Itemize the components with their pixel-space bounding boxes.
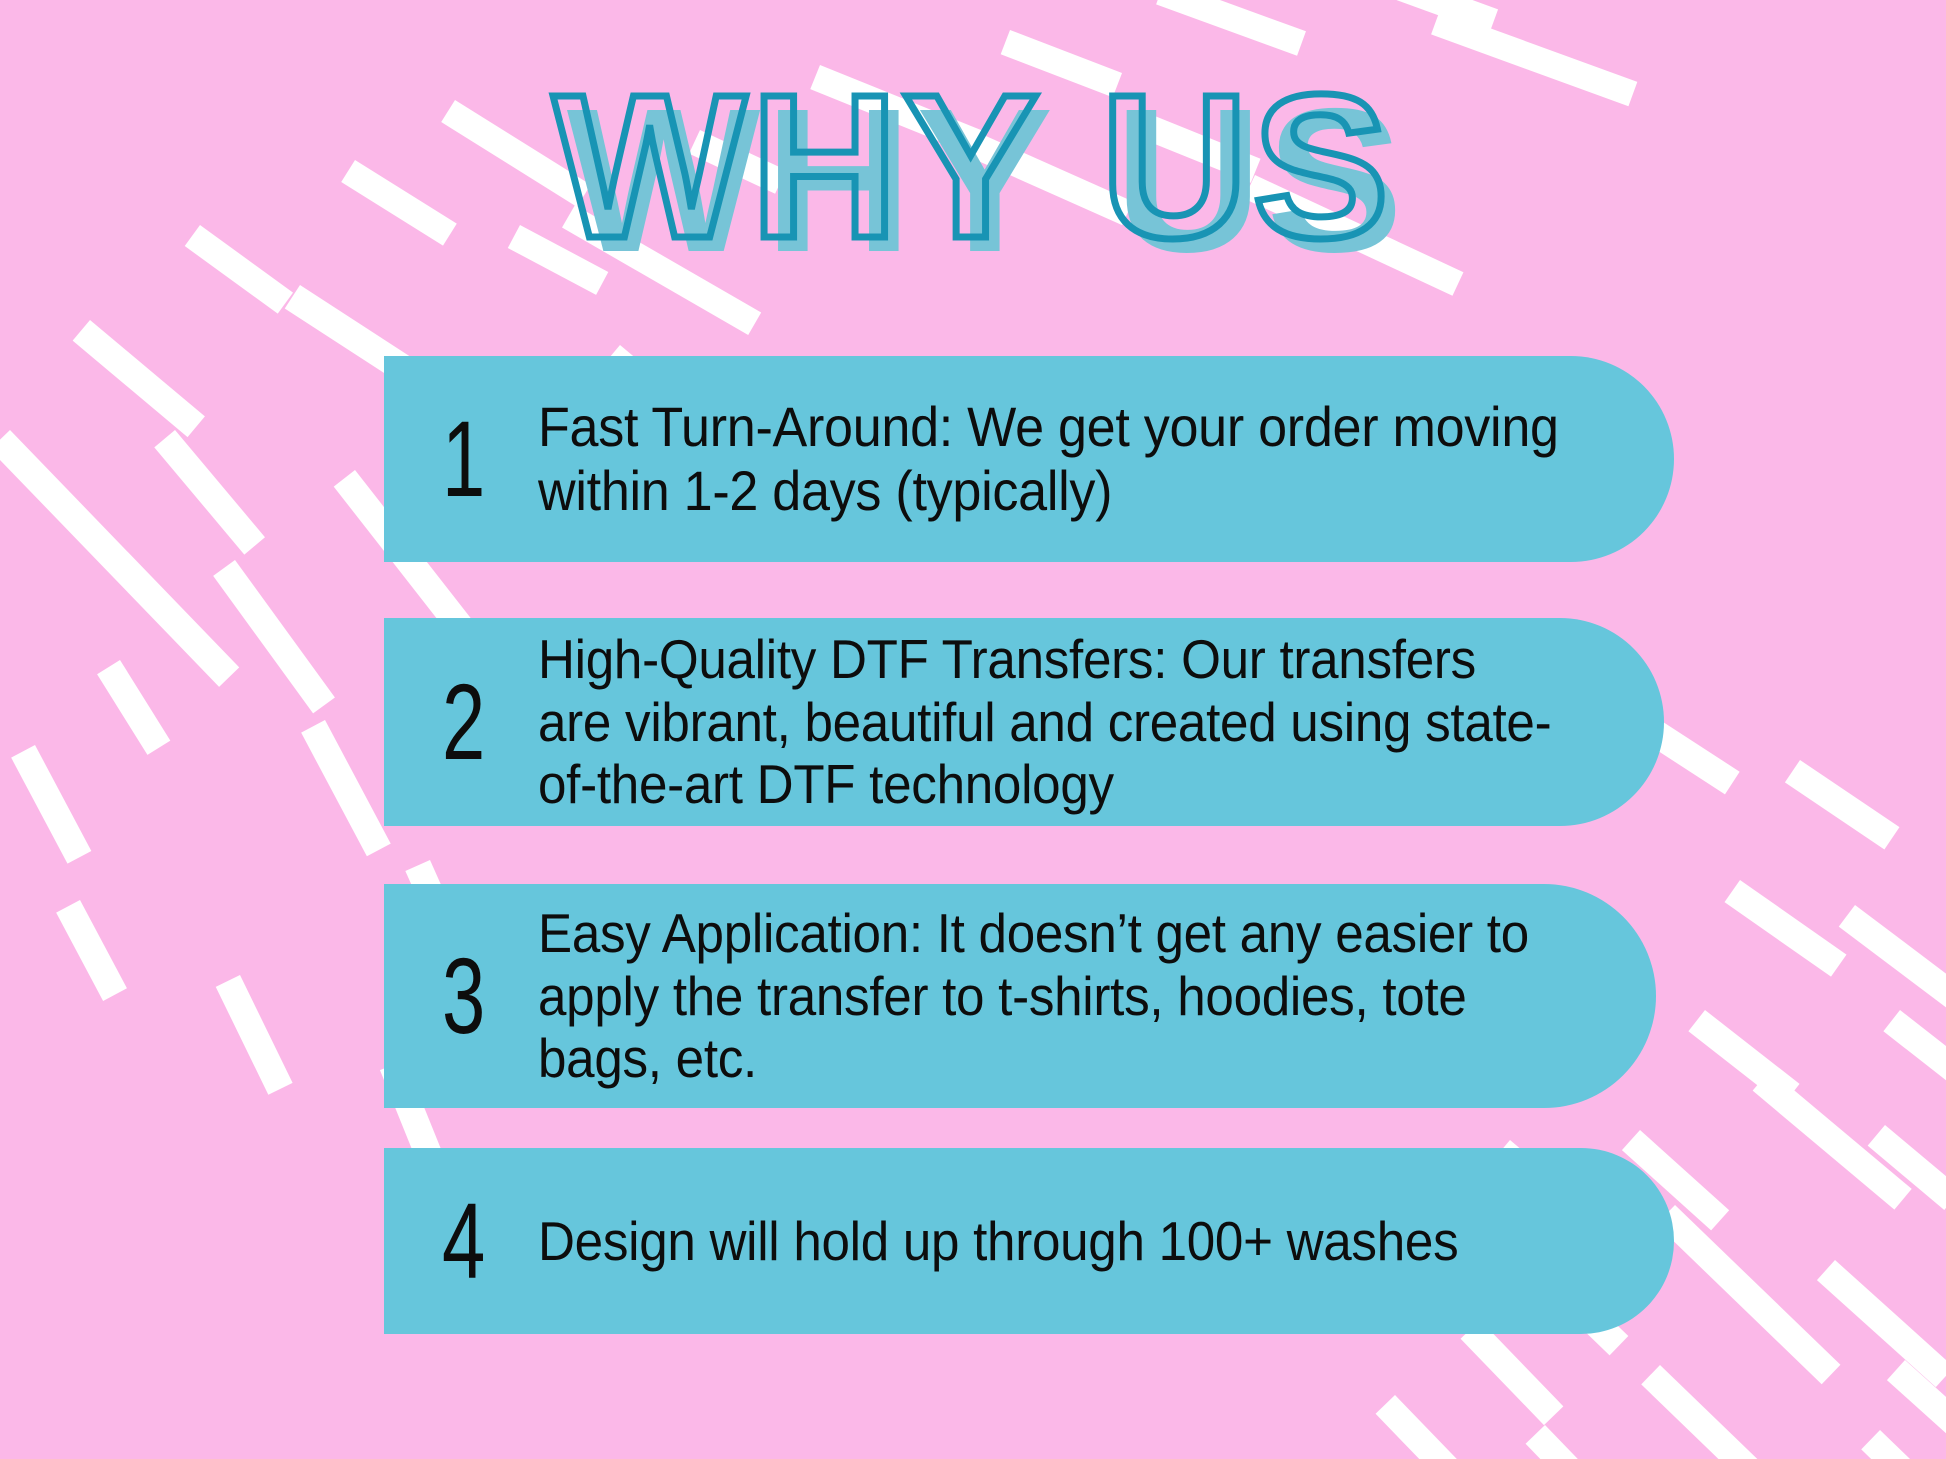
decorative-dash [11, 745, 91, 864]
decorative-dash [1156, 0, 1306, 56]
decorative-dash [1868, 1125, 1946, 1210]
benefit-card-2: 2 High-Quality DTF Transfers: Our transf… [384, 618, 1664, 826]
decorative-dash [1861, 1430, 1946, 1459]
benefit-card-3: 3 Easy Application: It doesn’t get any e… [384, 884, 1656, 1108]
page-title: WHY US WHY US [0, 62, 1946, 272]
decorative-dash [213, 560, 335, 713]
benefit-number-4: 4 [442, 1187, 511, 1295]
decorative-dash [1688, 1010, 1799, 1105]
decorative-dash [1381, 0, 1498, 34]
decorative-dash [1839, 905, 1946, 1059]
decorative-dash [1883, 1010, 1946, 1111]
decorative-dash [1641, 1365, 1782, 1459]
poster-canvas: WHY US WHY US 1 Fast Turn-Around: We get… [0, 0, 1946, 1459]
benefit-text-4: Design will hold up through 100+ washes [538, 1210, 1486, 1273]
decorative-dash [97, 660, 170, 755]
decorative-dash [1656, 1205, 1840, 1384]
benefit-number-3: 3 [442, 942, 511, 1050]
decorative-dash [1376, 1395, 1486, 1459]
decorative-dash [1785, 760, 1900, 849]
benefit-card-4: 4 Design will hold up through 100+ washe… [384, 1148, 1674, 1334]
decorative-dash [1887, 1360, 1946, 1454]
decorative-dash [1753, 1070, 1912, 1210]
decorative-dash [56, 900, 127, 1001]
benefit-number-2: 2 [442, 668, 511, 776]
decorative-dash [1817, 1260, 1946, 1387]
benefit-card-1: 1 Fast Turn-Around: We get your order mo… [384, 356, 1674, 562]
page-title-outline: WHY US [553, 62, 1393, 272]
benefit-number-1: 1 [442, 405, 511, 513]
decorative-dash [154, 430, 265, 555]
decorative-dash [1526, 1425, 1650, 1459]
benefit-text-3: Easy Application: It doesn’t get any eas… [538, 902, 1578, 1090]
benefit-text-1: Fast Turn-Around: We get your order movi… [538, 395, 1594, 523]
decorative-dash [73, 320, 205, 437]
decorative-dash [0, 430, 239, 687]
decorative-dash [1725, 880, 1847, 977]
decorative-dash [216, 975, 293, 1095]
decorative-dash [1461, 1320, 1564, 1425]
title-stack: WHY US WHY US [553, 62, 1393, 272]
benefit-text-2: High-Quality DTF Transfers: Our transfer… [538, 628, 1585, 816]
decorative-dash [301, 720, 391, 856]
